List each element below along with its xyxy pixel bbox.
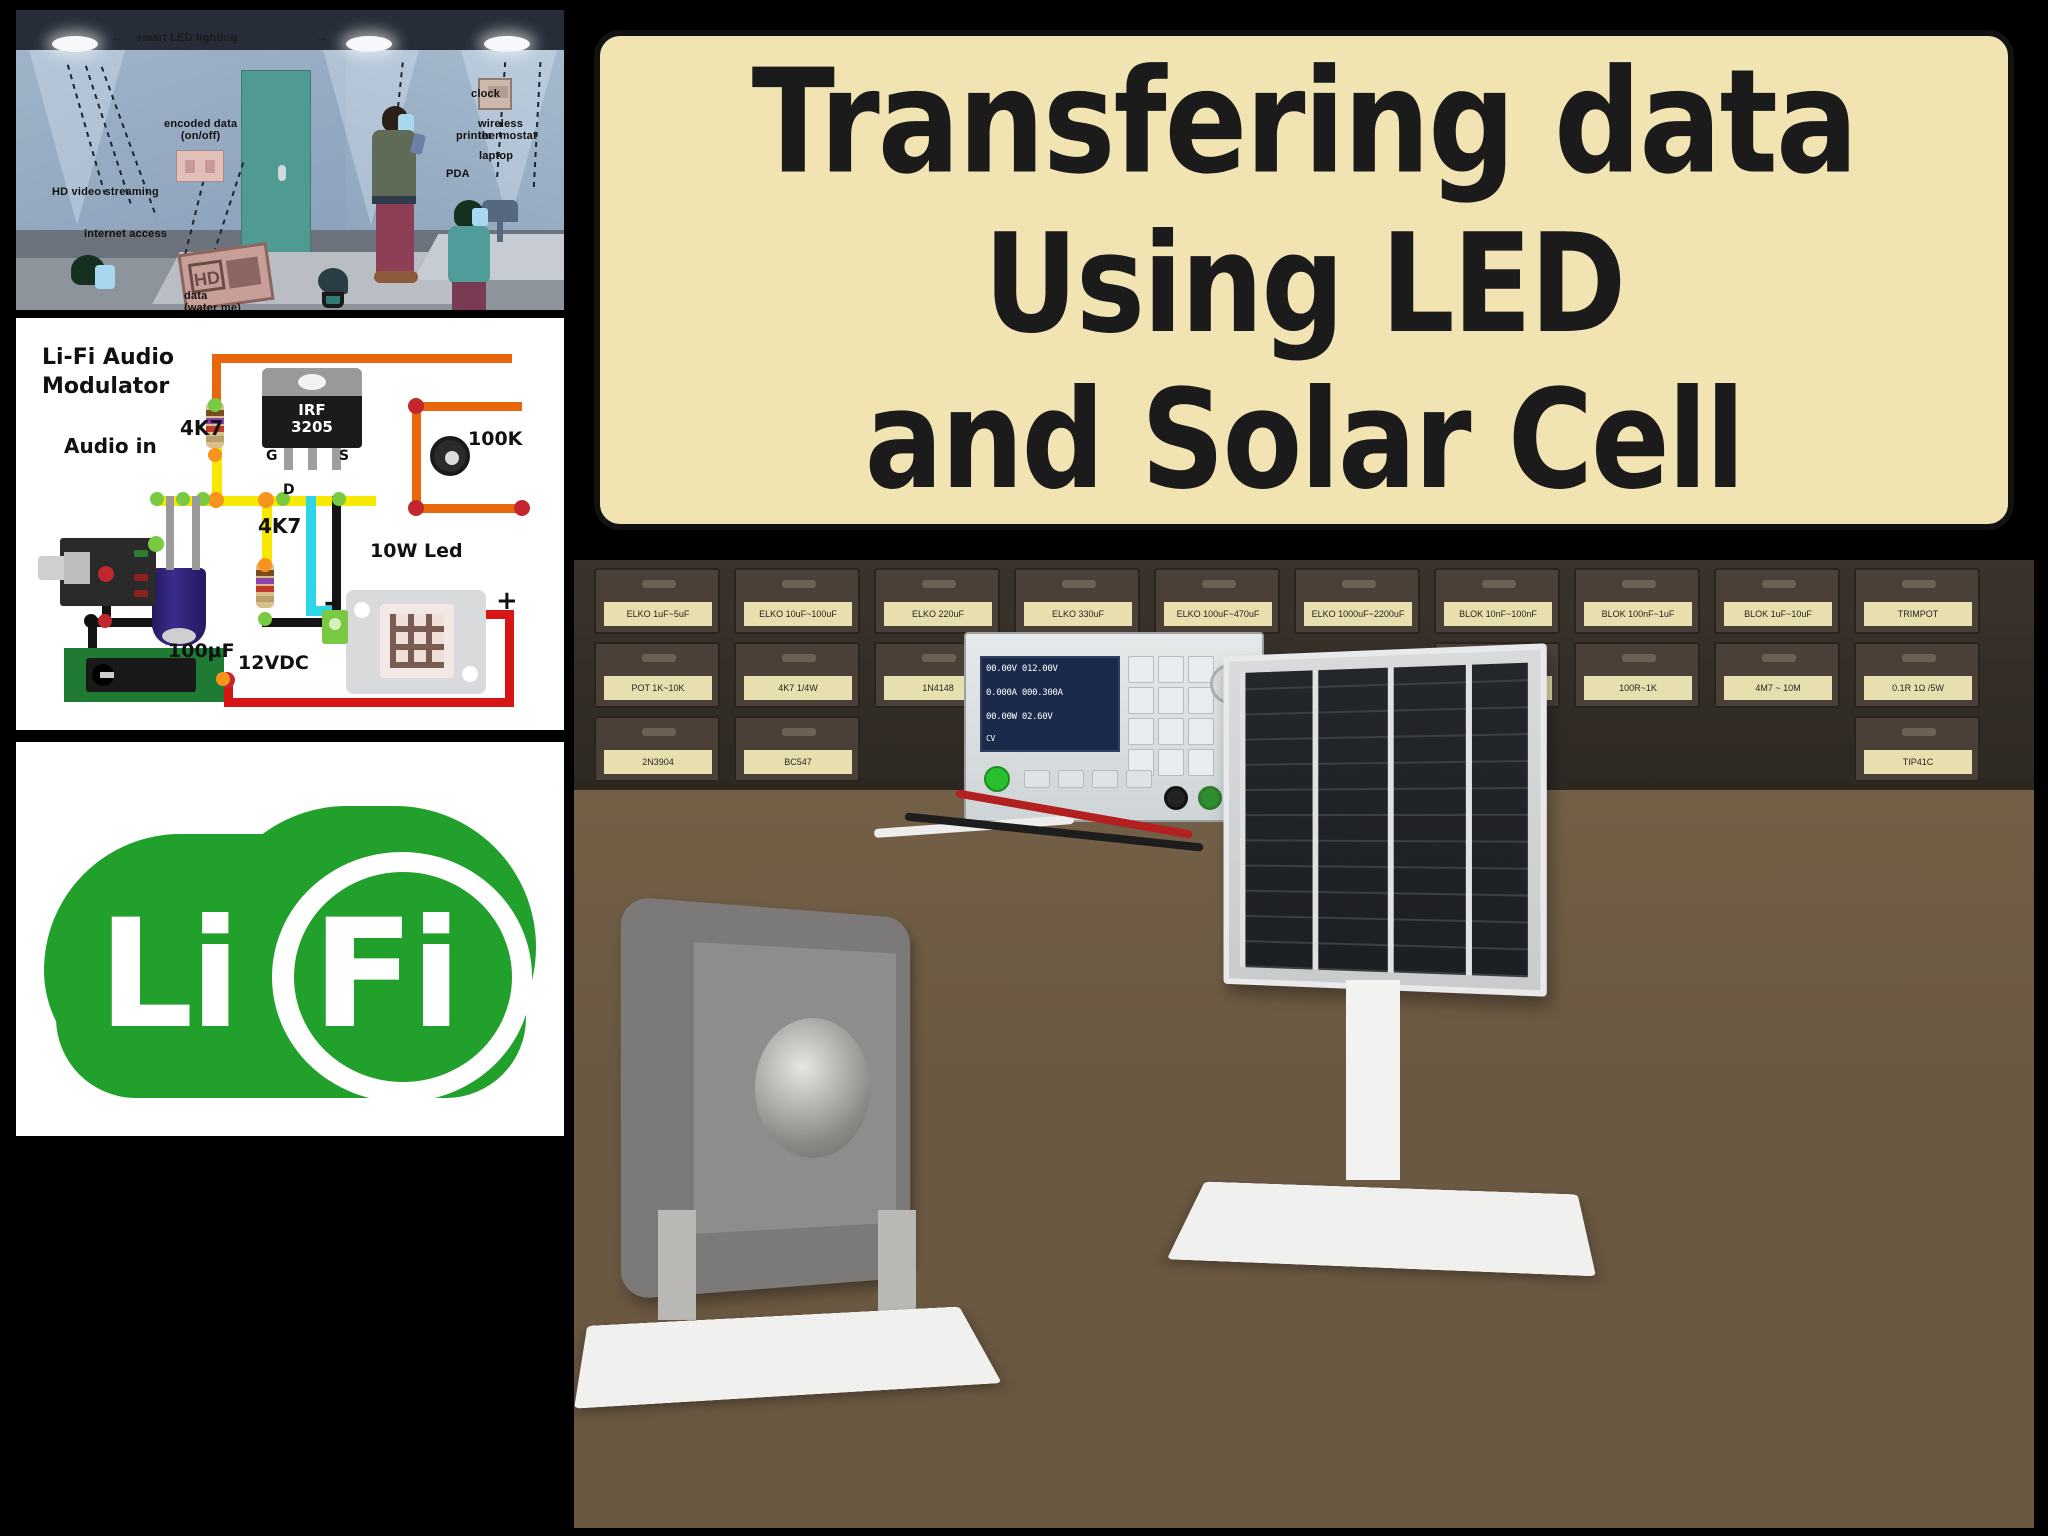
node-source [332,492,346,506]
capacitor-value-label: 100µF [168,640,235,662]
logo-text-li: Li [98,900,237,1050]
psu-function-button-2[interactable] [1058,770,1084,788]
title-line-3: and Solar Cell [865,373,1743,510]
drawer-label: ELKO 220uF [884,602,992,626]
power-supply-label: 12VDC [238,652,309,674]
node-audio-out [150,492,164,506]
hardware-photo-panel: ELKO 1uF~5uF ELKO 10uF~100uF ELKO 220uF … [574,560,2034,1528]
title-card: Transfering data Using LED and Solar Cel… [594,30,2014,530]
psu-readout-row-1: 00.00V 012.00V [986,664,1118,682]
thumbnail-collage: HD ← smart LED lighting → encoded data (… [0,0,2048,1536]
node-r1-top [208,398,222,412]
node-jack-ground [98,566,114,582]
schematic-title: Li-Fi Audio Modulator [42,344,174,401]
emitter-base-plate [574,1307,1002,1409]
mosfet-pin-drain [308,448,317,470]
mosfet-label-line1: IRF [298,401,325,419]
node-r1-bottom [208,448,222,462]
drawer: 0.1R 1Ω /5W [1854,642,1980,708]
drawer-label: BLOK 10nF~100nF [1444,602,1552,626]
hd-video-streaming-label: HD video streaming [52,186,159,198]
receiver-base-plate [1167,1182,1596,1277]
mosfet-label-line2: 3205 [291,418,333,436]
audio-in-label: Audio in [64,434,157,458]
drawer-label: ELKO 330uF [1024,602,1132,626]
drawer-label: 2N3904 [604,750,712,774]
door [241,70,311,255]
drawer-label: POT 1K~10K [604,676,712,700]
person-at-desk [71,255,133,310]
hd-badge: HD [188,259,226,293]
drawer-label: BLOK 1uF~10uF [1724,602,1832,626]
emitter-bracket-right [878,1210,916,1320]
node-jack-signal [148,536,164,552]
internet-access-label: internet access [84,228,167,240]
capacitor-100uf [152,568,206,646]
drawer: POT 1K~10K [594,642,720,708]
wire-12v-to-led [505,610,514,706]
drawer: 2N3904 [594,716,720,782]
ceiling [16,10,564,50]
arrow-left-icon: ← [111,32,122,44]
drawer: TRIMPOT [1854,568,1980,634]
door-knob [278,165,286,181]
drawer: ELKO 330uF [1014,568,1140,634]
node-cap-1 [176,492,190,506]
node-audio-gnd [98,614,112,628]
psu-display: 00.00V 012.00V 0.000A 000.300A 00.00W 02… [980,656,1120,752]
node-r2-bottom [258,612,272,626]
psu-key[interactable] [1128,656,1154,683]
emitter-bracket-left [658,1210,696,1320]
led-module-10w [346,590,486,694]
pin-drain-label: D [283,482,295,498]
resistor-1-value-label: 4K7 [180,416,223,440]
room-scene: HD ← smart LED lighting → encoded data (… [16,10,564,310]
drawer: ELKO 1000uF~2200uF [1294,568,1420,634]
drawer-label: TIP41C [1864,750,1972,774]
psu-key[interactable] [1128,687,1154,714]
drawer: ELKO 1uF~5uF [594,568,720,634]
wire-pot-left [412,402,421,512]
title-panel: Transfering data Using LED and Solar Cel… [574,10,2034,550]
clock-label: clock [471,88,500,100]
person-on-phone [446,200,494,310]
drawer-label: ELKO 100uF~470uF [1164,602,1272,626]
receiver-post [1346,980,1400,1180]
wall-switch-plate [176,150,224,182]
psu-key[interactable] [1128,718,1154,745]
led-negative-label: - [324,588,335,618]
drawer: ELKO 220uF [874,568,1000,634]
mosfet-irf3205: IRF 3205 [262,368,362,448]
drawer: BLOK 100nF~1uF [1574,568,1700,634]
drawer: 4K7 1/4W [734,642,860,708]
psu-status-row: CV [986,734,1118,752]
lifi-logo: Li Fi [16,742,564,1136]
workbench-photo: ELKO 1uF~5uF ELKO 10uF~100uF ELKO 220uF … [574,560,2034,1528]
potentiometer-value-label: 100K [468,428,522,450]
drawer-label: ELKO 1uF~5uF [604,602,712,626]
arrow-right-icon: → [316,32,327,44]
jack-led-red-2 [134,590,148,597]
drawer-label: 4K7 1/4W [744,676,852,700]
jack-led-red-1 [134,574,148,581]
wire-pot-top [412,402,522,411]
wire-drain [306,496,316,616]
title-line-2: Using LED [984,217,1624,354]
drawer: BC547 [734,716,860,782]
pin-gate-label: G [266,448,278,464]
light-beam-1 [29,50,125,225]
encoded-data-label: encoded data (on/off) [164,118,237,142]
potentiometer-100k [430,436,470,476]
led-positive-label: + [496,586,518,616]
drawer: ELKO 100uF~470uF [1154,568,1280,634]
drawer-label: 0.1R 1Ω /5W [1864,676,1972,700]
node-ground-corner [84,614,98,628]
monitor-screen [226,256,262,288]
data-water-me-label: data (water me) [184,290,241,310]
psu-power-button[interactable] [984,766,1010,792]
led-module-label: 10W Led [370,540,463,562]
node-r2-top [258,558,272,572]
smart-led-lighting-label: smart LED lighting [136,32,237,44]
logo-text-fi: Fi [312,900,458,1050]
drawer: BLOK 1uF~10uF [1714,568,1840,634]
psu-function-button-1[interactable] [1024,770,1050,788]
psu-readout-row-2: 0.000A 000.300A [986,688,1118,706]
solar-cell-receiver-assembly [1174,650,1734,1370]
node-bus-2 [258,492,274,508]
drawer-label: ELKO 10uF~100uF [744,602,852,626]
jack-led-green [134,550,148,557]
cap-lead-1 [166,496,174,570]
node-pot-bl [408,500,424,516]
wire-pot-bottom [412,504,522,513]
lifi-room-illustration-panel: HD ← smart LED lighting → encoded data (… [16,10,564,310]
laptop-label: laptop [479,150,513,162]
lifi-logo-panel: Li Fi [16,742,564,1136]
node-bus-1 [208,492,224,508]
wire-supply-top [212,354,512,363]
pin-source-label: S [339,448,349,464]
psu-readout-row-3: 00.00W 02.60V [986,712,1118,730]
title-line-1: Transfering data [752,50,1857,194]
drawer: BLOK 10nF~100nF [1434,568,1560,634]
cap-lead-2 [192,496,200,570]
drawer-label: 4M7 ~ 10M [1724,676,1832,700]
circuit-schematic-panel: IRF 3205 [16,318,564,730]
printer-label: printer [456,130,492,142]
solar-panel [1224,643,1547,996]
drawer: ELKO 10uF~100uF [734,568,860,634]
person-with-pda [368,106,420,286]
psu-function-button-4[interactable] [1126,770,1152,788]
drawer-label: BLOK 100nF~1uF [1584,602,1692,626]
solar-cells [1240,663,1528,978]
mosfet-pin-gate [284,448,293,470]
drawer-label: BC547 [744,750,852,774]
node-dc-positive [216,672,230,686]
lifi-audio-modulator-schematic: IRF 3205 [16,318,564,730]
node-pot-tl [408,398,424,414]
plant [316,268,350,308]
resistor-2-value-label: 4K7 [258,514,301,538]
led-emitter-assembly [584,890,1004,1470]
drawer-label: ELKO 1000uF~2200uF [1304,602,1412,626]
node-pot-br [514,500,530,516]
pda-label-1: PDA [446,168,470,180]
drawer-label: TRIMPOT [1864,602,1972,626]
wire-12v-right [224,698,514,707]
psu-function-button-3[interactable] [1092,770,1118,788]
drawer: TIP41C [1854,716,1980,782]
